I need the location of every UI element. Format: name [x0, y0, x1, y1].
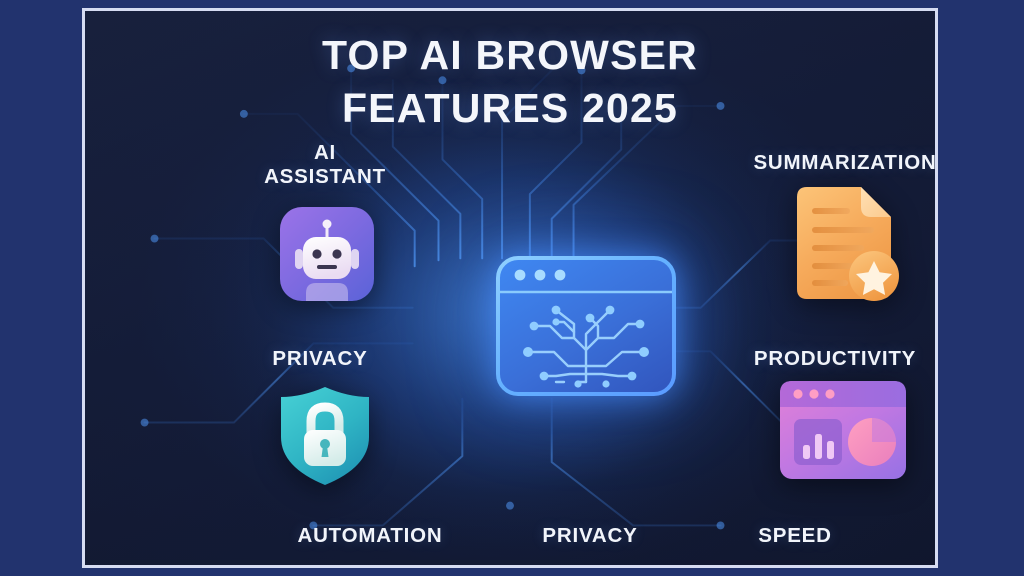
title-line-1: TOP AI BROWSER [85, 29, 935, 82]
infographic-frame: TOP AI BROWSER FEATURES 2025 AI ASSISTAN… [82, 8, 938, 568]
title-line-2: FEATURES 2025 [85, 82, 935, 135]
label-privacy: PRIVACY [220, 347, 420, 371]
label-privacy-bottom: PRIVACY [485, 524, 695, 548]
label-summarization: SUMMARIZATION [675, 151, 935, 175]
document-star-icon [785, 183, 903, 307]
label-speed: SPEED [705, 524, 885, 548]
ai-browser-window-icon [494, 254, 678, 398]
page-title: TOP AI BROWSER FEATURES 2025 [85, 29, 935, 136]
label-ai-assistant-line-2: ASSISTANT [205, 165, 445, 189]
label-ai-assistant-line-1: AI [205, 141, 445, 165]
infographic-canvas: TOP AI BROWSER FEATURES 2025 AI ASSISTAN… [85, 11, 935, 565]
robot-icon [280, 207, 374, 301]
label-ai-assistant: AI ASSISTANT [205, 141, 445, 189]
infographic-stage: TOP AI BROWSER FEATURES 2025 AI ASSISTAN… [0, 0, 1024, 576]
label-productivity: PRODUCTIVITY [665, 347, 935, 371]
label-automation: AUTOMATION [210, 524, 530, 548]
shield-lock-icon [278, 385, 372, 487]
dashboard-chart-icon [778, 379, 908, 481]
